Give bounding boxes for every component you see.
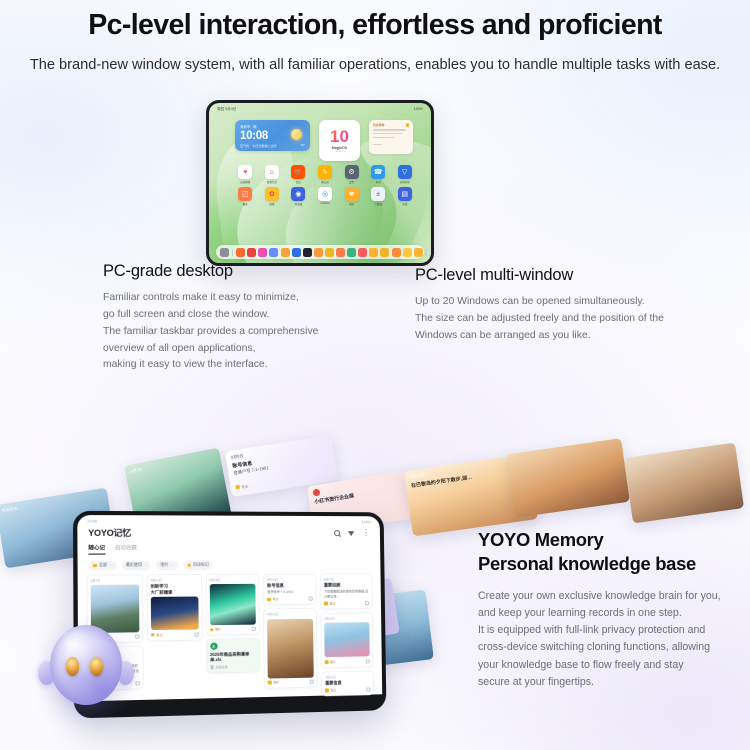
app-glyph: ✎	[318, 165, 332, 179]
card-footer: 表格文档	[210, 664, 257, 669]
app-icon-3[interactable]: 🛒淘宝	[288, 165, 309, 184]
yoyo-app-header: YOYO记忆 ⋮	[77, 526, 380, 539]
card-date: 8月21日	[150, 578, 197, 582]
card-date: 7月30日	[325, 674, 370, 679]
taskbar-icon-16[interactable]	[392, 248, 401, 257]
card-footer: 笔记	[325, 688, 370, 693]
feature-body: Familiar controls make it easy to minimi…	[103, 290, 433, 374]
feature-pc-level-multiwindow: 荣耀文档 荣耀文档 最近 我的文件	[415, 96, 750, 345]
card-title: 账号信息	[267, 583, 313, 589]
card-thumbnail	[324, 623, 369, 658]
card-title: 小红书旅行企业展	[314, 483, 408, 505]
app-icon-13[interactable]: ±计算器	[368, 187, 389, 206]
widget-temperature: 28°	[300, 143, 305, 148]
status-bar-time: 10:08	[87, 519, 97, 523]
app-label: 微博	[269, 202, 274, 206]
card-action-icon[interactable]	[365, 601, 369, 605]
widget-location: 深圳市 · 晴	[240, 124, 305, 129]
yoyo-filter-chips[interactable]: 全部⌄最近使用⌄图片⌄自动标记	[78, 554, 381, 575]
feature-pc-grade-desktop: 周四 9月4日 100% 深圳市 · 晴 10:08 空气优 · 今日无雨放心出…	[103, 96, 433, 374]
app-label: 备忘录	[321, 180, 329, 184]
app-label: 智慧生活	[267, 180, 277, 184]
taskbar-icon-1[interactable]	[220, 248, 229, 257]
search-icon[interactable]	[334, 530, 340, 536]
card-footer: 图片	[268, 680, 314, 685]
card-action-icon[interactable]	[135, 681, 139, 685]
chevron-down-icon: ⌄	[109, 563, 112, 567]
memo-line	[373, 129, 406, 130]
app-glyph: ♥	[238, 165, 252, 179]
widget-weather-detail: 空气优 · 今日无雨放心出行	[240, 143, 277, 148]
chip-label: 最近使用	[126, 563, 142, 568]
card-action-icon[interactable]	[310, 680, 314, 684]
card-date: 9月3日	[130, 452, 216, 474]
card-thumbnail	[209, 584, 256, 625]
tag-icon	[151, 633, 155, 637]
tag-icon	[325, 660, 329, 664]
card-tag: 笔记	[325, 688, 336, 692]
card-badge-label: 笔记	[241, 483, 248, 489]
status-bar: 周四 9月4日 100%	[209, 105, 431, 113]
page-subtitle: The brand-new window system, with all fa…	[0, 54, 750, 76]
memo-widget-title: 待办清单	[373, 123, 385, 127]
tag-icon	[268, 681, 272, 685]
filter-icon[interactable]	[348, 531, 354, 536]
yoyo-text-block: YOYO Memory Personal knowledge base Crea…	[478, 528, 750, 691]
yoyo-body: Create your own exclusive knowledge brai…	[478, 588, 750, 691]
app-glyph: ◎	[318, 187, 332, 201]
tag-icon	[324, 602, 328, 606]
memory-card[interactable]: 8月15日账号信息登录账号 7-2-1901笔记	[264, 574, 316, 604]
xiaohongshu-icon	[312, 489, 320, 497]
chevron-down-icon: ⌄	[171, 563, 174, 567]
magicos-number: 10	[330, 128, 349, 145]
app-icon-9[interactable]: ✿微博	[262, 187, 283, 206]
card-date: 8月18日	[209, 578, 255, 582]
app-glyph: ◉	[291, 187, 305, 201]
app-glyph: ±	[371, 187, 385, 201]
card-date: 8月05日	[324, 616, 369, 621]
taskbar-icon-15[interactable]	[380, 248, 389, 257]
memory-card[interactable]: 8月21日创新学习 大厂前端课笔记	[147, 575, 201, 640]
app-label: 浏览器	[295, 202, 303, 206]
taskbar-icon-7[interactable]	[292, 248, 301, 257]
card-title: 2025年商品采购清单单.xls	[210, 651, 257, 663]
page-title: Pc-level interaction, effortless and pro…	[0, 8, 750, 43]
app-glyph: ❀	[345, 187, 359, 201]
app-icon-6[interactable]: ☎电话	[368, 165, 389, 184]
feature-body: Up to 20 Windows can be opened simultane…	[415, 294, 750, 345]
card-tag: 笔记	[151, 633, 163, 637]
taskbar-icon-13[interactable]	[358, 248, 367, 257]
app-glyph: ⚙	[345, 165, 359, 179]
card-title: 创新学习 大厂前端课	[151, 584, 198, 595]
feature-title: PC-level multi-window	[415, 266, 750, 285]
card-thumbnail	[267, 618, 313, 678]
card-title: 重要信息	[325, 680, 370, 686]
app-icon-14[interactable]: ▤文档	[394, 187, 415, 206]
app-icon-10[interactable]: ◉浏览器	[288, 187, 309, 206]
card-footer: 图片	[210, 627, 257, 632]
yoyo-tab-随心记[interactable]: 随心记	[88, 544, 105, 555]
taskbar-icon-2[interactable]	[236, 248, 245, 257]
app-label: Chrome	[321, 202, 330, 205]
card-thumbnail	[151, 597, 199, 631]
app-label: 应用市场	[400, 180, 410, 184]
app-glyph: ✿	[265, 187, 279, 201]
chip-color-dot	[93, 564, 97, 568]
more-options-icon[interactable]: ⋮	[362, 531, 370, 535]
tag-icon	[210, 628, 214, 632]
taskbar-icon-4[interactable]	[258, 248, 267, 257]
app-icon-7[interactable]: ▽应用市场	[394, 165, 415, 184]
card-action-icon[interactable]	[366, 659, 370, 663]
mascot-eye-left	[66, 657, 79, 676]
taskbar-icon-12[interactable]	[347, 248, 356, 257]
card-badge: 笔记	[235, 483, 248, 490]
card-action-icon[interactable]	[366, 688, 370, 692]
app-glyph: ☎	[371, 165, 385, 179]
memory-card[interactable]: X2025年商品采购清单单.xls表格文档	[207, 639, 260, 672]
app-icon-grid: ♥运动健康⌂智慧生活🛒淘宝✎备忘录⚙设置☎电话▽应用市场◰图库✿微博◉浏览器◎C…	[235, 165, 415, 206]
memory-card[interactable]: 8月09日重要回顾下周需要跟进的事项安排整理,自己要记录...笔记	[321, 574, 372, 609]
app-label: 淘宝	[296, 180, 301, 184]
card-footer: 笔记	[324, 601, 369, 605]
taskbar-icon-17[interactable]	[403, 248, 412, 257]
app-glyph: ▤	[398, 187, 412, 201]
app-icon-1[interactable]: ♥运动健康	[235, 165, 256, 184]
app-label: 设置	[349, 180, 354, 184]
card-tag: 图片	[268, 680, 279, 684]
card-footer: 笔记	[151, 632, 198, 637]
card-footer: 笔记	[267, 597, 313, 601]
chip-color-dot	[187, 563, 191, 567]
taskbar-icon-14[interactable]	[369, 248, 378, 257]
status-bar-battery: 100%	[362, 520, 371, 524]
app-glyph: ▽	[398, 165, 412, 179]
app-icon-5[interactable]: ⚙设置	[341, 165, 362, 184]
yoyo-chip-全部[interactable]: 全部⌄	[88, 561, 116, 570]
hero-section: Pc-level interaction, effortless and pro…	[0, 0, 750, 76]
yoyo-title: YOYO Memory Personal knowledge base	[478, 528, 750, 577]
tag-icon	[267, 598, 271, 602]
memo-icon	[406, 123, 409, 126]
note-icon	[236, 485, 241, 490]
card-action-icon[interactable]	[309, 597, 313, 601]
card-date: 8月09日	[324, 577, 369, 581]
app-label: 图库	[243, 202, 248, 206]
app-icon-8[interactable]: ◰图库	[235, 187, 256, 206]
card-action-icon[interactable]	[135, 635, 139, 639]
app-label: 计算器	[374, 202, 382, 206]
taskbar-icon-3[interactable]	[247, 248, 256, 257]
taskbar-icon-8[interactable]	[303, 248, 312, 257]
magicos-widget[interactable]: 10 MagicOS 10.0.1	[319, 120, 360, 161]
app-label: 电话	[376, 180, 381, 184]
yoyo-memory-section: 今天打卡 9月3日 8月8日 账号信息 登录户号 7-2-1901 笔记 小红书…	[0, 420, 750, 750]
tablet-device-desktop: 周四 9月4日 100% 深圳市 · 晴 10:08 空气优 · 今日无雨放心出…	[206, 100, 434, 266]
card-date: 9月3日	[91, 578, 139, 582]
taskbar-icon-9[interactable]	[314, 248, 323, 257]
taskbar-icon-11[interactable]	[336, 248, 345, 257]
taskbar-separator	[232, 249, 233, 256]
card-action-icon[interactable]	[194, 632, 198, 636]
floating-memory-card-sunset[interactable]	[506, 438, 630, 518]
magicos-version: 10.0.1	[336, 150, 343, 153]
chip-label: 自动标记	[193, 563, 209, 568]
chip-label: 图片	[161, 563, 169, 568]
card-preview: 登录账号 7-2-1901	[267, 590, 313, 595]
memo-line	[373, 144, 382, 145]
yoyo-chip-自动标记[interactable]: 自动标记	[183, 561, 213, 570]
yoyo-mascot	[38, 625, 134, 707]
app-icon-11[interactable]: ◎Chrome	[315, 187, 336, 206]
card-tag: 表格文档	[210, 665, 228, 669]
yoyo-header-actions[interactable]: ⋮	[334, 530, 370, 536]
card-preview: 下周需要跟进的事项安排整理,自己要记录...	[324, 589, 369, 599]
mascot-head	[50, 625, 122, 705]
app-icon-12[interactable]: ❀美团	[341, 187, 362, 206]
taskbar-icon-5[interactable]	[269, 248, 278, 257]
app-glyph: ◰	[238, 187, 252, 201]
card-date: 8月11日	[267, 612, 313, 617]
card-tag: 图片	[325, 660, 336, 664]
taskbar-icon-6[interactable]	[281, 248, 290, 257]
tag-icon	[325, 689, 329, 693]
tag-icon	[210, 665, 214, 669]
excel-icon: X	[210, 643, 217, 650]
chip-label: 全部	[99, 563, 107, 568]
status-bar: 10:08 100%	[77, 515, 380, 527]
taskbar-icon-10[interactable]	[325, 248, 334, 257]
app-icon-2[interactable]: ⌂智慧生活	[262, 165, 283, 184]
app-label: 美团	[349, 202, 354, 206]
app-glyph: 🛒	[291, 165, 305, 179]
card-tag: 图片	[210, 627, 221, 631]
chevron-down-icon: ⌄	[144, 563, 147, 567]
card-tag: 笔记	[324, 602, 335, 606]
memory-card[interactable]: 8月11日图片	[264, 609, 317, 688]
yoyo-app-title: YOYO记忆	[88, 526, 131, 539]
card-date: 8月15日	[267, 577, 313, 581]
status-bar-date: 周四 9月4日	[217, 107, 236, 112]
sun-icon	[291, 129, 302, 140]
app-glyph: ⌂	[265, 165, 279, 179]
yoyo-tab-自动收藏[interactable]: 自动收藏	[115, 544, 137, 555]
app-label: 运动健康	[240, 180, 250, 184]
memory-card[interactable]: 7月30日重要信息笔记	[322, 671, 373, 696]
yoyo-tabs[interactable]: 随心记自动收藏	[77, 539, 380, 555]
weather-clock-widget[interactable]: 深圳市 · 晴 10:08 空气优 · 今日无雨放心出行 28°	[235, 120, 310, 151]
app-icon-4[interactable]: ✎备忘录	[315, 165, 336, 184]
app-label: 文档	[402, 202, 407, 206]
card-footer: 图片	[325, 659, 370, 664]
memo-line	[373, 137, 395, 138]
tablet-screen-desktop: 周四 9月4日 100% 深圳市 · 晴 10:08 空气优 · 今日无雨放心出…	[209, 103, 431, 263]
memo-widget[interactable]: 待办清单	[369, 120, 413, 154]
card-tag: 笔记	[267, 597, 278, 601]
memory-card[interactable]: 8月05日图片	[321, 613, 373, 667]
mascot-eye-right	[90, 657, 103, 676]
floating-memory-card-landscape[interactable]	[624, 443, 744, 524]
card-action-icon[interactable]	[252, 627, 256, 631]
yoyo-chip-最近使用[interactable]: 最近使用⌄	[121, 561, 151, 570]
yoyo-chip-图片[interactable]: 图片⌄	[156, 561, 177, 570]
taskbar[interactable]	[216, 245, 424, 259]
card-title: 重要回顾	[324, 583, 369, 589]
memory-card[interactable]: 8月18日图片	[206, 574, 259, 634]
memo-line	[373, 133, 403, 134]
